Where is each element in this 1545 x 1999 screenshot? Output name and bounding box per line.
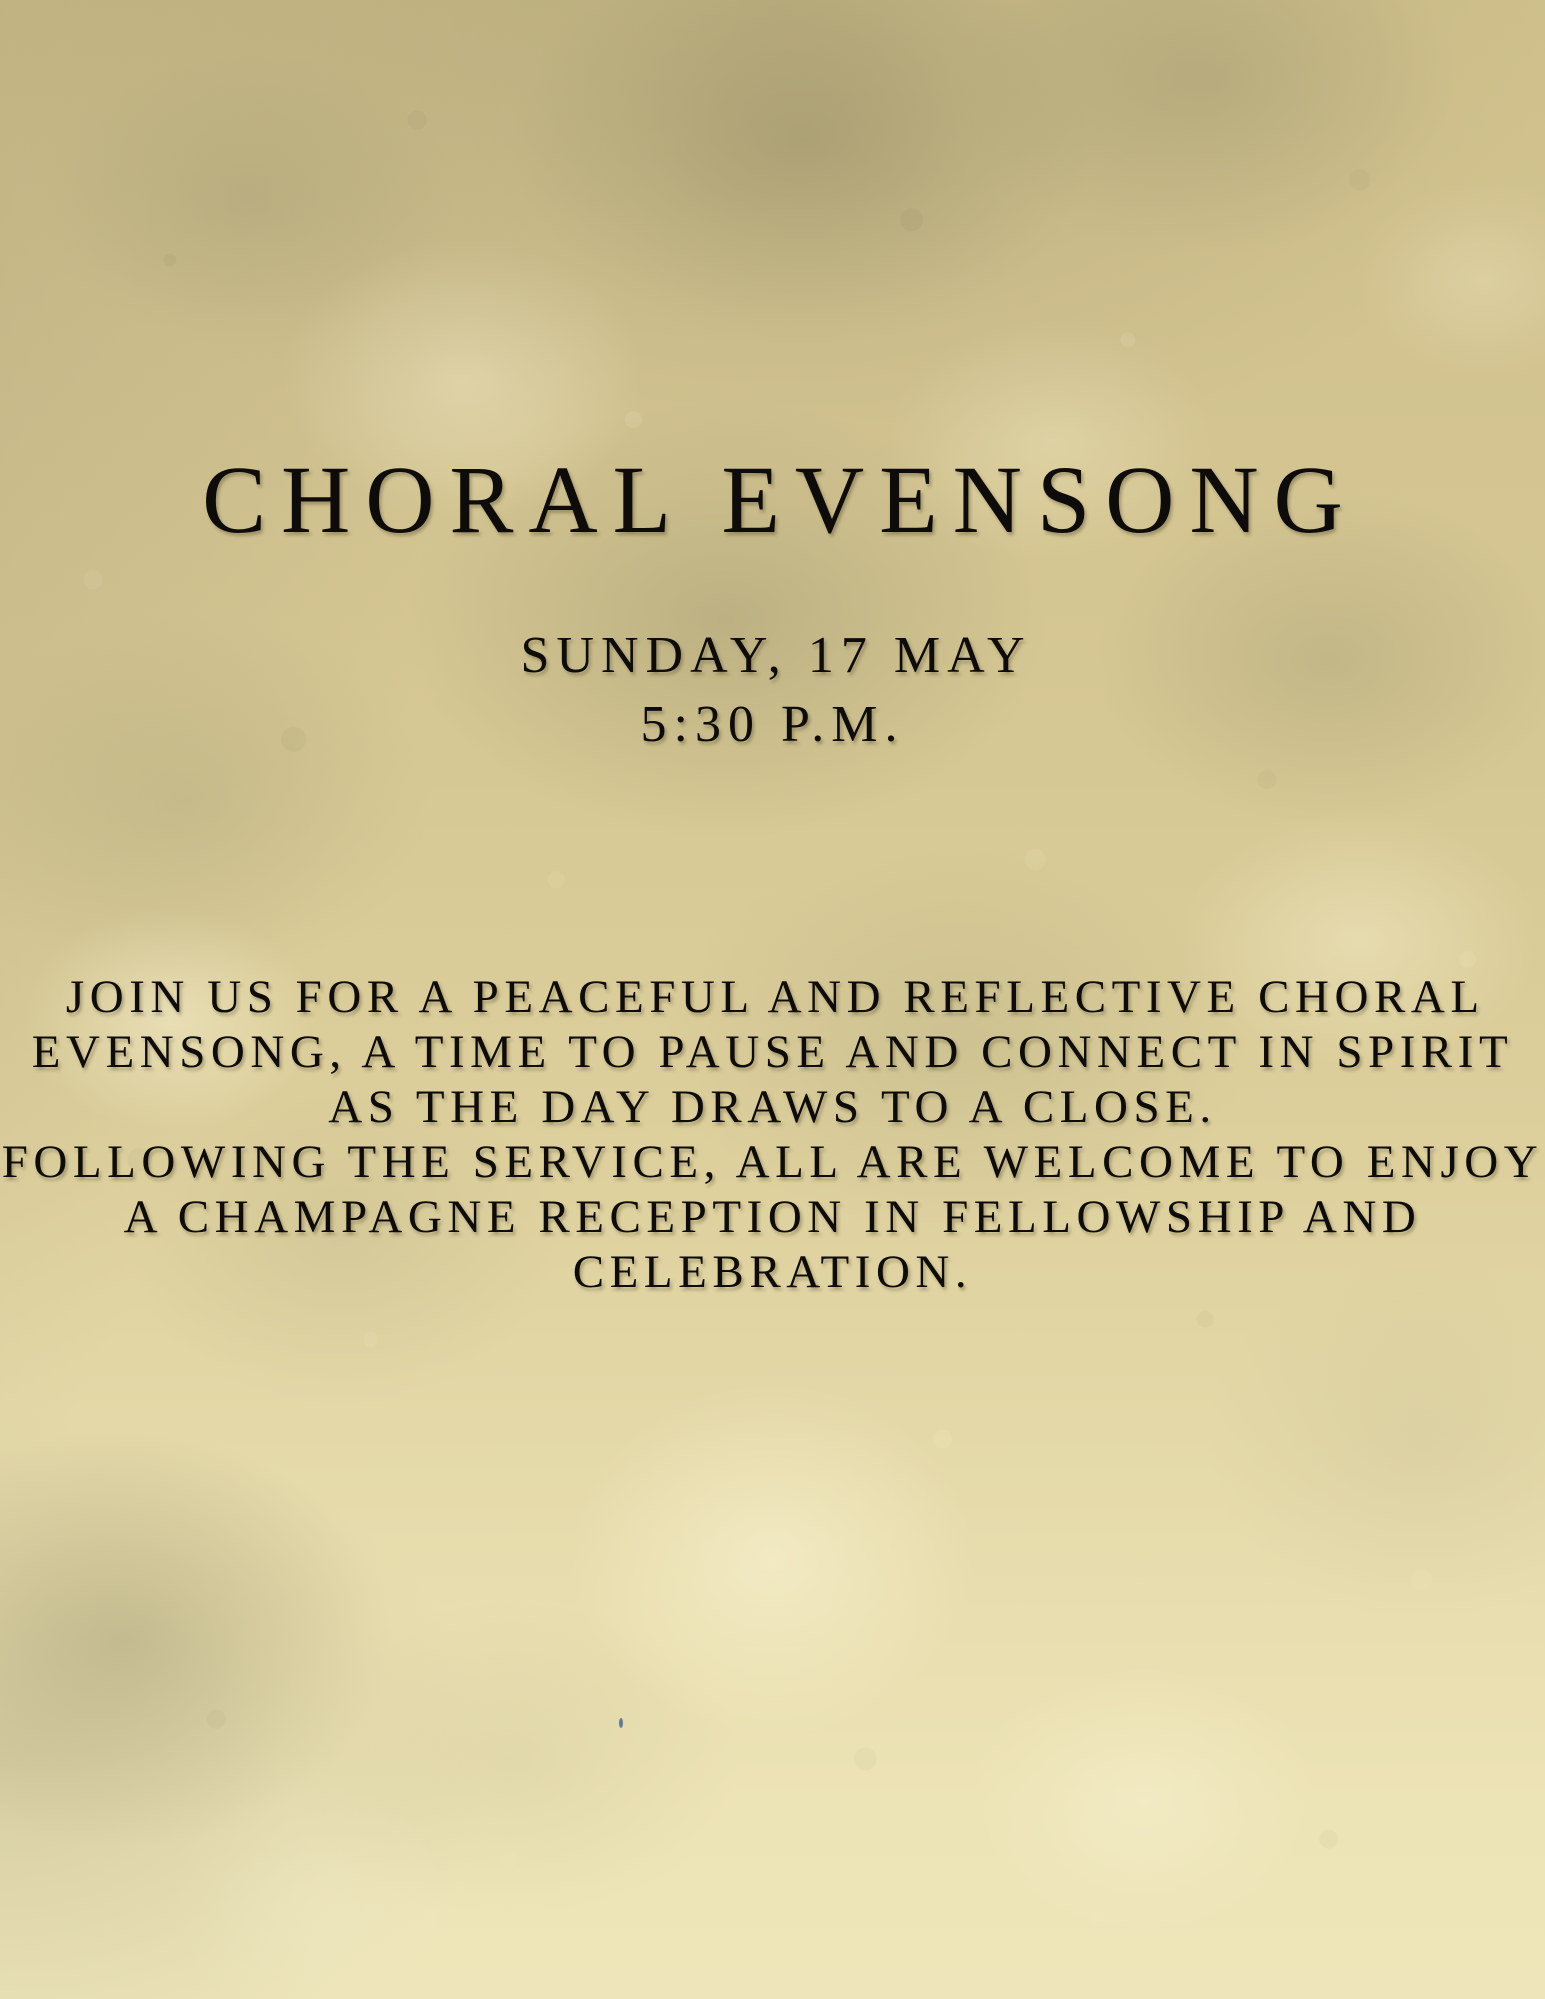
background-speck-artifact (619, 1718, 623, 1728)
event-description: Join us for a peaceful and reflective Ch… (0, 970, 1545, 1300)
poster-title: Choral Evensong (0, 452, 1545, 548)
event-date-time: Sunday, 17 May 5:30 p.m. (0, 622, 1545, 759)
poster-canvas: Choral Evensong Sunday, 17 May 5:30 p.m.… (0, 0, 1545, 1999)
poster-content: Choral Evensong Sunday, 17 May 5:30 p.m.… (0, 0, 1545, 1999)
